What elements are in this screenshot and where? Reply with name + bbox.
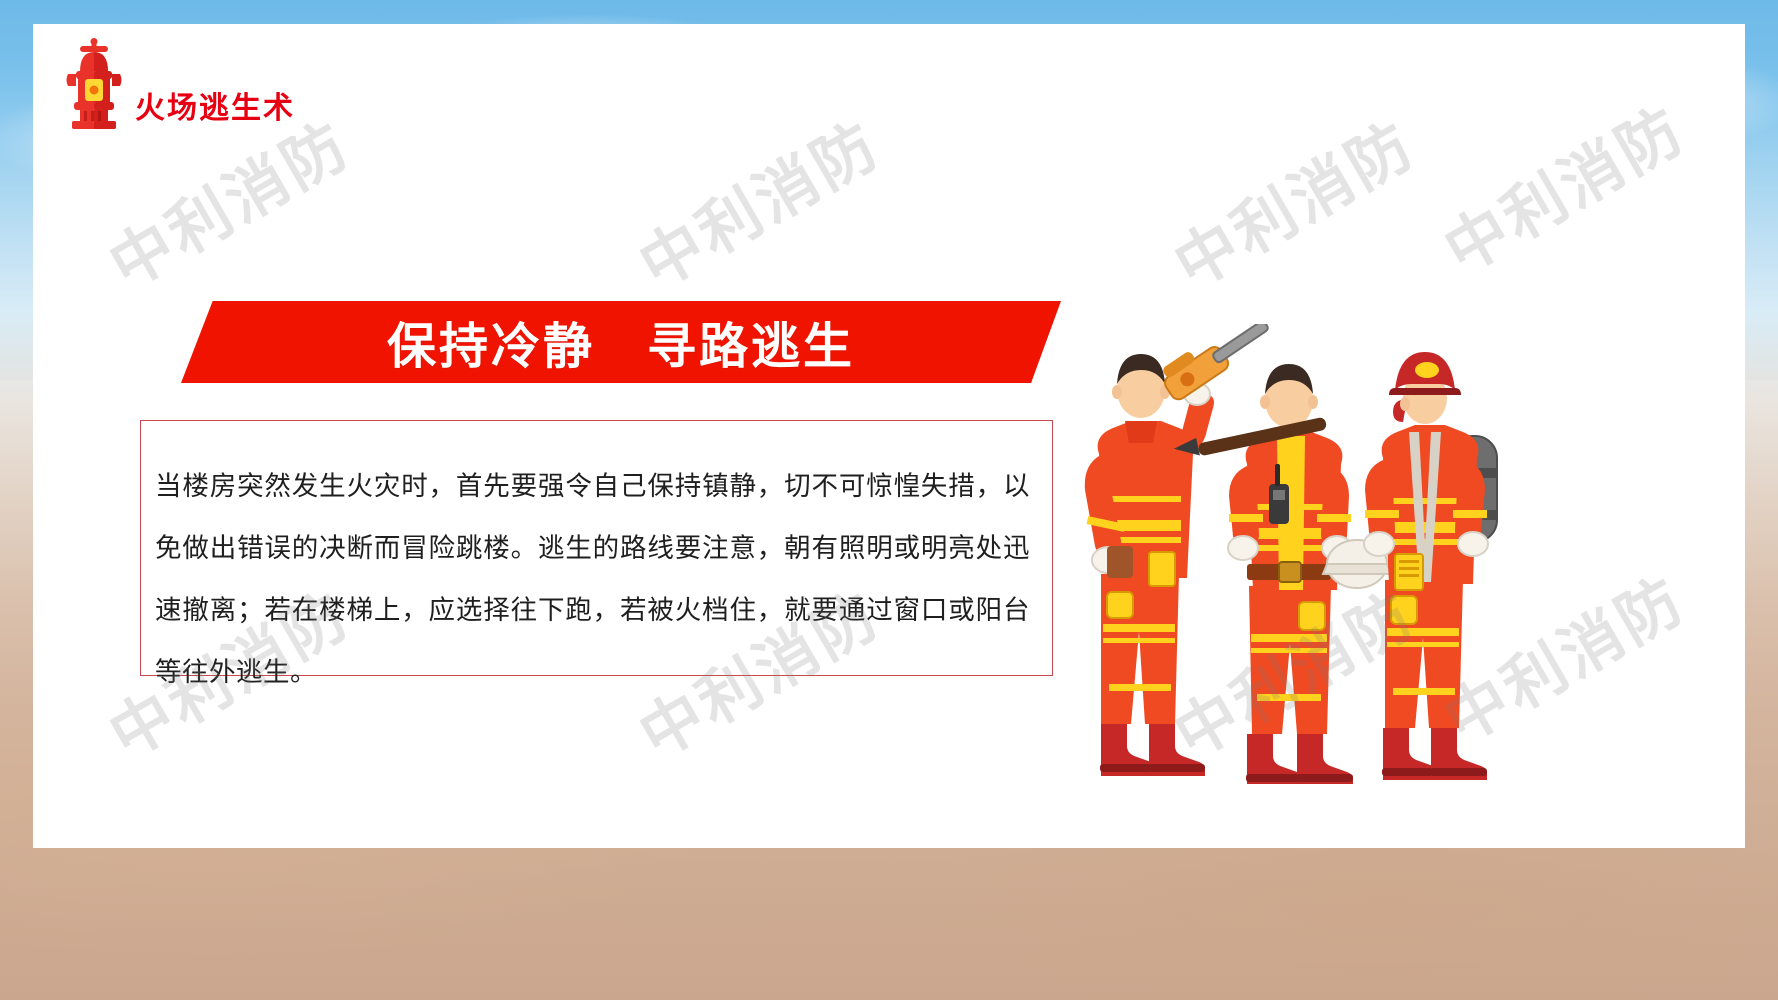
logo: 火场逃生术: [63, 38, 295, 130]
content-paragraph: 当楼房突然发生火灾时，首先要强令自己保持镇静，切不可惊惶失措，以免做出错误的决断…: [155, 455, 1030, 703]
slide-canvas: 火场逃生术 保持冷静 寻路逃生 当楼房突然发生火灾时，首先要强令自己保持镇静，切…: [0, 0, 1778, 1000]
title-banner: 保持冷静 寻路逃生: [181, 301, 1061, 383]
content-box: 当楼房突然发生火灾时，首先要强令自己保持镇静，切不可惊惶失措，以免做出错误的决断…: [140, 420, 1053, 676]
fire-hydrant-icon: [63, 38, 125, 130]
three-firefighters-illustration: [1073, 324, 1533, 784]
logo-text: 火场逃生术: [135, 94, 295, 130]
slide-card: 火场逃生术 保持冷静 寻路逃生 当楼房突然发生火灾时，首先要强令自己保持镇静，切…: [33, 24, 1745, 848]
page-title: 保持冷静 寻路逃生: [181, 301, 1061, 383]
